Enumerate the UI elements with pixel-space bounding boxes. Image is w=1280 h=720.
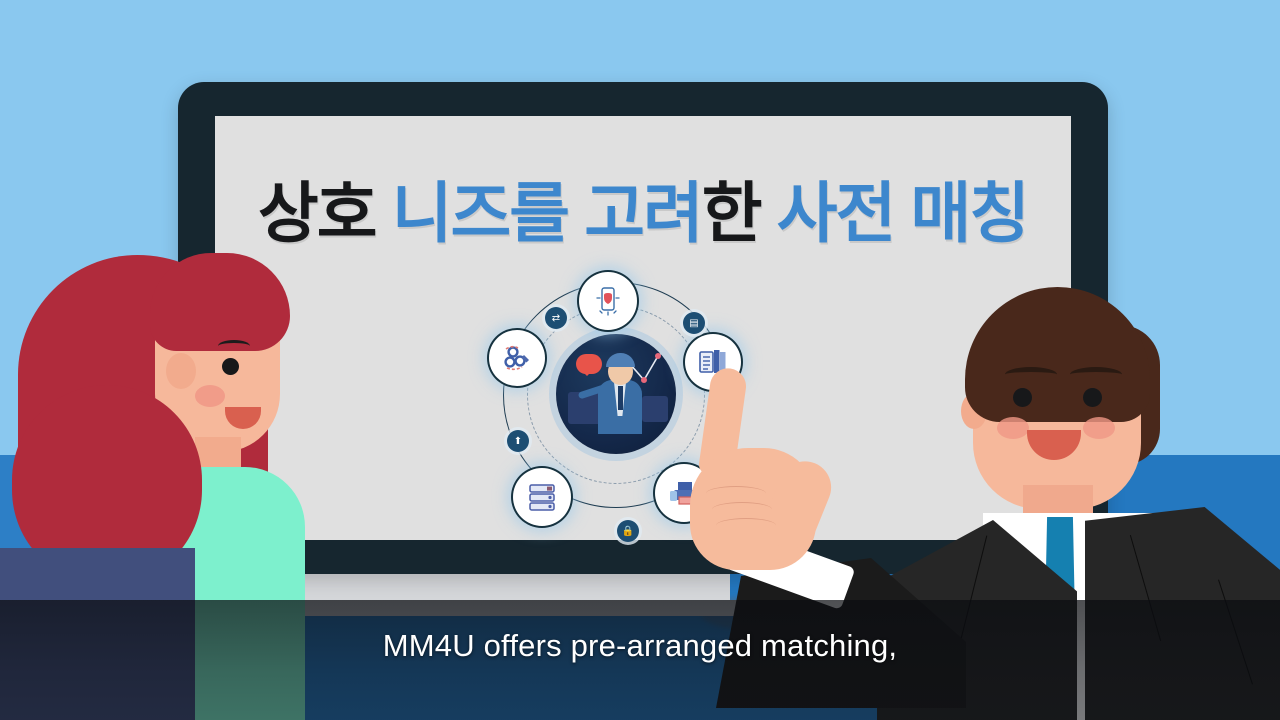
hub-speech-bubble xyxy=(576,354,602,374)
man-eyebrow-left xyxy=(1005,367,1057,382)
man-cheek-left xyxy=(997,417,1029,439)
knuckle-lines xyxy=(706,480,796,546)
sync-badge[interactable]: ⇄ xyxy=(545,307,567,329)
server-rack-icon[interactable] xyxy=(513,468,571,526)
woman-cheek-blush xyxy=(195,385,225,407)
woman-hair-fringe xyxy=(150,253,290,351)
woman-ear xyxy=(166,353,196,389)
upload-badge[interactable]: ⬆ xyxy=(507,430,529,452)
man-eye-left xyxy=(1013,388,1032,407)
mobile-security-icon[interactable] xyxy=(579,272,637,330)
slide-title-segment-3: 한 xyxy=(702,176,761,250)
man-eyebrow-right xyxy=(1070,367,1122,382)
chat-badge[interactable]: ▤ xyxy=(683,312,705,334)
man-hair xyxy=(965,287,1150,422)
man-cheek-right xyxy=(1083,417,1115,439)
slide-title-segment-1: 상호 xyxy=(258,176,392,250)
subtitle-text: MM4U offers pre-arranged matching, xyxy=(0,628,1280,664)
slide-title-segment-2: 니즈를 고려 xyxy=(392,176,702,250)
video-frame: 상호 니즈를 고려한 사전 매칭 xyxy=(0,0,1280,720)
infographic-hub xyxy=(556,334,676,454)
hub-figure-tie xyxy=(618,386,623,410)
man-eye-right xyxy=(1083,388,1102,407)
slide-title: 상호 니즈를 고려한 사전 매칭 xyxy=(215,180,1071,246)
slide-title-segment-4: 사전 매칭 xyxy=(760,176,1028,250)
lock-badge[interactable]: 🔒 xyxy=(617,520,639,542)
settings-gears-icon[interactable] xyxy=(489,330,545,386)
woman-eye xyxy=(222,358,239,375)
woman-eyebrow xyxy=(218,340,250,352)
